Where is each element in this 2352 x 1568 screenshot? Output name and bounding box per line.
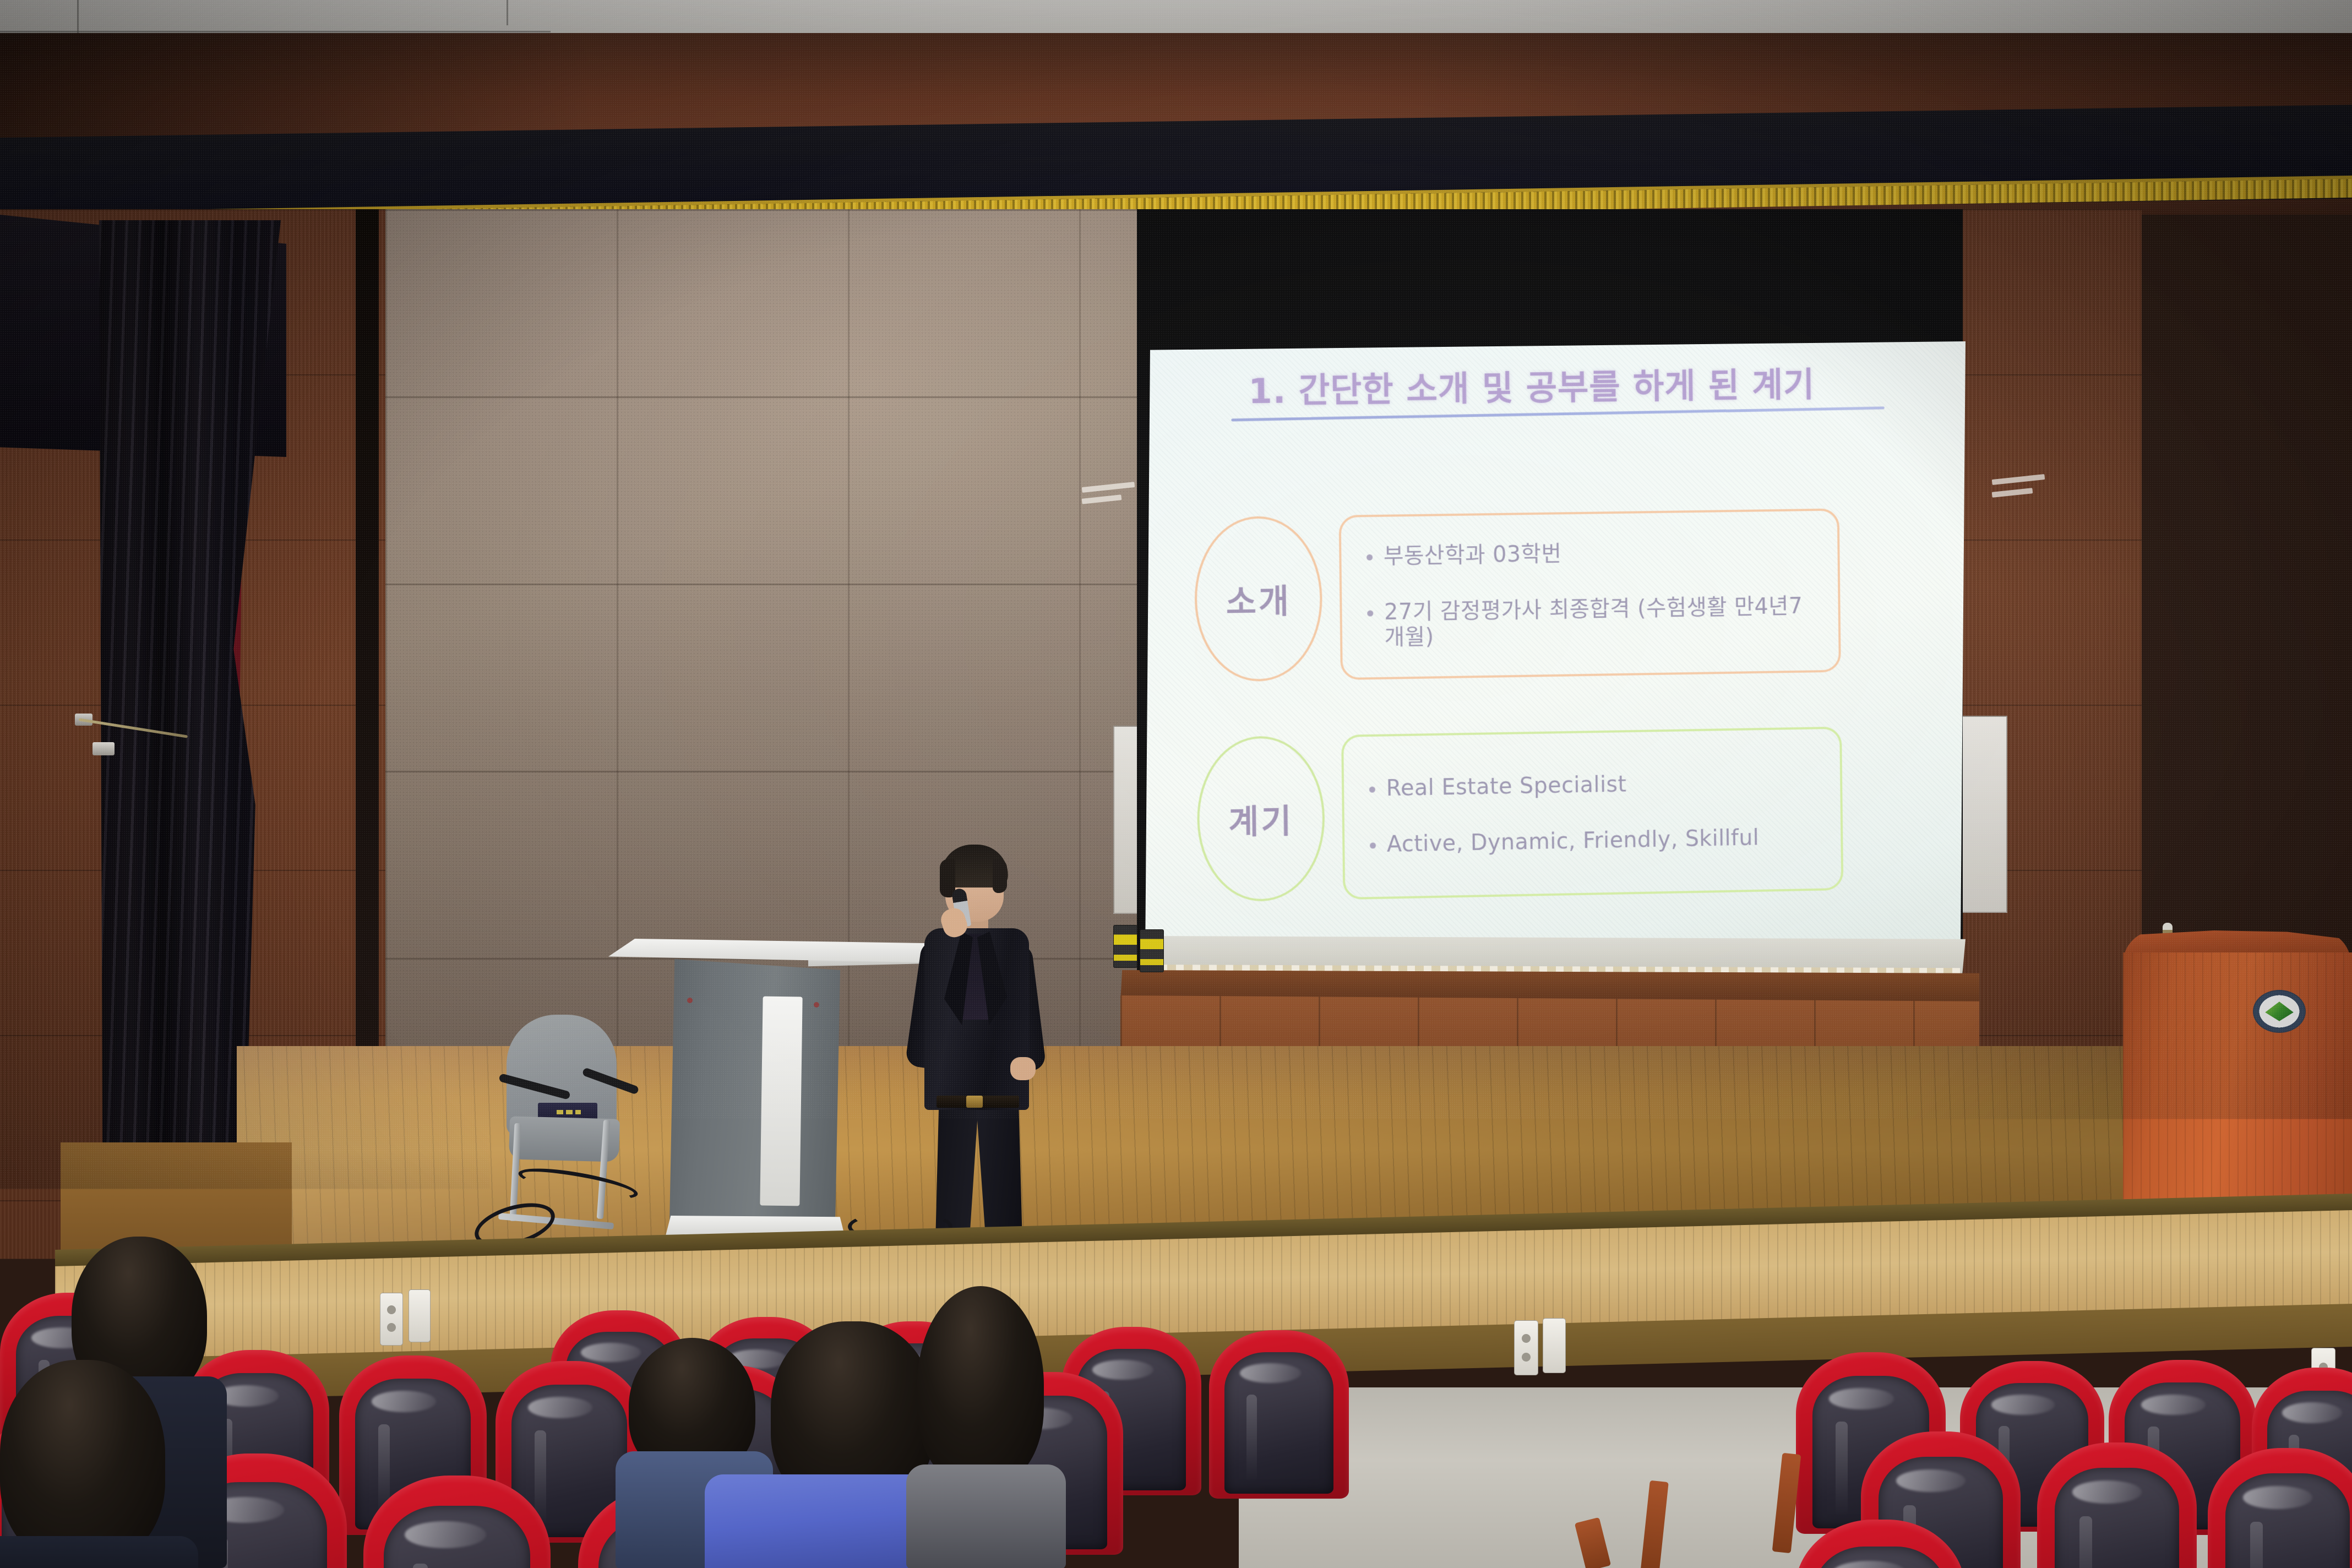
marker-box — [1113, 925, 1137, 968]
audience-head-ponytail — [917, 1286, 1044, 1484]
bullet-text: Active, Dynamic, Friendly, Skillful — [1387, 825, 1760, 857]
wall-dark-strip-left — [356, 209, 379, 1057]
auditorium-seat[interactable] — [1209, 1330, 1349, 1499]
audience-body — [0, 1536, 198, 1568]
group-label-intro: 소개 — [1226, 574, 1291, 623]
light-switch-right[interactable] — [1543, 1318, 1566, 1373]
power-outlet-right[interactable] — [1514, 1320, 1538, 1375]
podium-body[interactable] — [669, 959, 840, 1234]
slide-group-intro: 소개 부동산학과 03학번 27기 감정평가사 최종합격 (수험생활 만4년7개… — [1194, 508, 1841, 682]
auditorium-seat[interactable] — [2037, 1442, 2197, 1568]
bullet-text: Real Estate Specialist — [1386, 772, 1626, 801]
bullet-item: Real Estate Specialist — [1369, 769, 1816, 802]
audience-head — [1894, 1309, 2015, 1463]
podium-screw — [814, 1002, 819, 1008]
power-outlet[interactable] — [380, 1293, 403, 1346]
wall-panel-right — [1957, 716, 2007, 913]
stage-floor-left — [61, 1142, 292, 1253]
bullet-text: 부동산학과 03학번 — [1384, 541, 1562, 569]
presenter — [906, 837, 1049, 1255]
group-label-motive: 계기 — [1228, 794, 1294, 843]
slide-group-motive: 계기 Real Estate Specialist Active, Dynami… — [1196, 727, 1843, 902]
group-box-motive: Real Estate Specialist Active, Dynamic, … — [1341, 727, 1843, 900]
institution-seal-icon — [2253, 990, 2306, 1033]
bullet-dot-icon — [1369, 787, 1375, 793]
podium-accent-panel — [760, 997, 802, 1206]
slide-title: 1. 간단한 소개 및 공부를 하게 된 계기 — [1248, 356, 1869, 413]
wall-wood-right — [1960, 209, 2142, 1046]
bullet-item: Active, Dynamic, Friendly, Skillful — [1370, 824, 1816, 857]
bullet-dot-icon — [1370, 842, 1376, 848]
wall-panel-left — [1113, 726, 1139, 914]
presenter-hand-right — [1010, 1057, 1036, 1080]
bullet-item: 부동산학과 03학번 — [1366, 538, 1813, 569]
light-switch[interactable] — [409, 1289, 431, 1342]
group-label-circle-intro: 소개 — [1194, 515, 1323, 682]
presenter-belt-buckle — [966, 1096, 983, 1108]
audience-head — [0, 1360, 165, 1564]
audience-body-gray — [906, 1464, 1066, 1568]
auditorium-scene: 1. 간단한 소개 및 공부를 하게 된 계기 소개 부동산학과 03학번 27… — [0, 0, 2352, 1568]
group-box-intro: 부동산학과 03학번 27기 감정평가사 최종합격 (수험생활 만4년7개월) — [1339, 508, 1841, 680]
presenter-hair-side-right — [993, 859, 1007, 893]
slide-content: 1. 간단한 소개 및 공부를 하게 된 계기 소개 부동산학과 03학번 27… — [1170, 344, 1936, 935]
bullet-dot-icon — [1366, 554, 1373, 560]
bullet-dot-icon — [1367, 611, 1373, 617]
bullet-item: 27기 감정평가사 최종합격 (수험생활 만4년7개월) — [1367, 594, 1814, 651]
marker-box — [1140, 929, 1164, 972]
bullet-text: 27기 감정평가사 최종합격 (수험생활 만4년7개월) — [1384, 594, 1814, 650]
group-label-circle-motive: 계기 — [1196, 735, 1326, 902]
podium-screw — [687, 998, 693, 1003]
curtain-hook-lower — [92, 742, 115, 755]
